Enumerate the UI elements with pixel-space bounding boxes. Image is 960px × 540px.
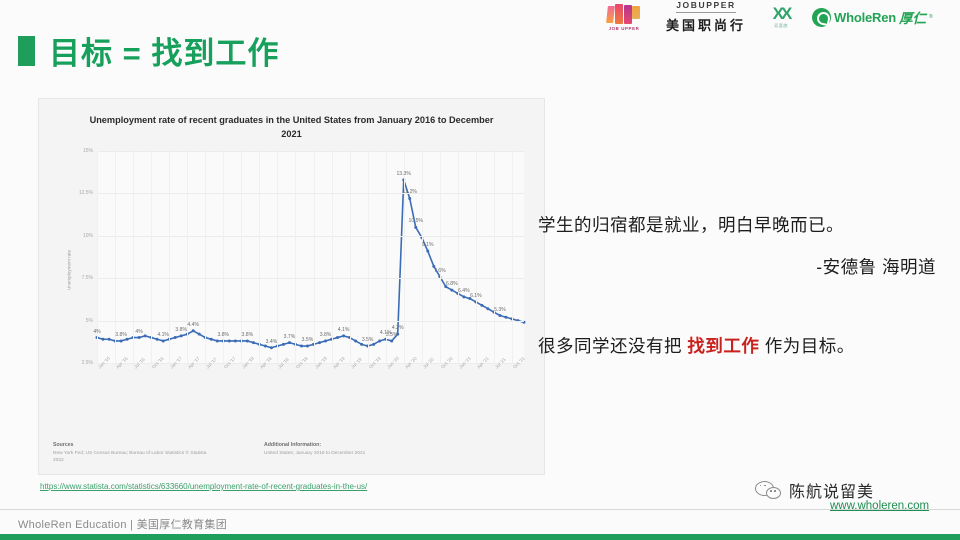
- y-axis-title: Unemployment rate: [67, 250, 72, 290]
- wholeren-logo: WholeRen 厚仁 ®: [812, 7, 933, 27]
- data-point: [504, 316, 507, 319]
- footer-divider: [0, 509, 960, 510]
- logo-bar: JOB UPPER JOBUPPER 美国职尚行 XX 双喜旗 WholeRen…: [596, 0, 960, 34]
- x-gridline: [295, 151, 296, 363]
- data-point: [228, 339, 231, 342]
- x-gridline: [277, 151, 278, 363]
- gridline: [97, 321, 524, 322]
- jobupper-en-text: JOBUPPER: [676, 0, 736, 13]
- jobupper-logo: JOBUPPER 美国职尚行: [662, 0, 750, 34]
- data-point-label: 3.5%: [362, 337, 374, 343]
- wechat-icon: [755, 480, 783, 501]
- data-point-label: 4.2%: [392, 325, 404, 331]
- data-point-label: 13.3%: [396, 171, 410, 177]
- data-point: [372, 343, 375, 346]
- gridline: [97, 193, 524, 194]
- statement-after: 作为目标。: [759, 336, 854, 356]
- data-point-label: 9.1%: [422, 242, 434, 248]
- page-title: 目标 = 找到工作: [18, 28, 279, 73]
- data-point-label: 7.6%: [434, 268, 446, 274]
- data-point: [144, 334, 147, 337]
- data-point: [486, 307, 489, 310]
- x-gridline: [368, 151, 369, 363]
- wholeren-leaf-icon: [812, 8, 831, 27]
- data-point-label: 4%: [135, 329, 142, 335]
- data-point-label: 3.8%: [217, 332, 229, 338]
- footer-text: WholeRen Education | 美国厚仁教育集团: [18, 516, 227, 532]
- job-upper-mark-icon: [605, 4, 643, 25]
- data-point-label: 3.8%: [115, 332, 127, 338]
- data-point: [120, 339, 123, 342]
- footer-accent-bar: [0, 534, 960, 540]
- data-point: [126, 338, 129, 341]
- data-point: [210, 338, 213, 341]
- data-point-label: 4.1%: [157, 332, 169, 338]
- data-point-label: 3.8%: [242, 332, 254, 338]
- y-axis-tick: 7.5%: [82, 275, 93, 281]
- data-point: [378, 339, 381, 342]
- data-point: [354, 339, 357, 342]
- y-axis-tick: 10%: [83, 233, 93, 239]
- data-point: [246, 339, 249, 342]
- sources-body: New York Fed; US Census Bureau; Bureau o…: [53, 451, 206, 463]
- data-point: [198, 333, 201, 336]
- data-point: [462, 295, 465, 298]
- data-point-label: 6.1%: [470, 293, 482, 299]
- title-bullet-icon: [18, 36, 35, 66]
- x-gridline: [440, 151, 441, 363]
- data-point: [360, 343, 363, 346]
- data-point-label: 3.5%: [302, 337, 314, 343]
- data-point-label: 6.4%: [458, 288, 470, 294]
- data-point-label: 4.1%: [338, 327, 350, 333]
- gridline: [97, 278, 524, 279]
- wechat-badge: 陈航说留美: [755, 478, 874, 502]
- data-point-label: 3.7%: [284, 334, 296, 340]
- wholeren-en-text: WholeRen: [834, 10, 896, 25]
- data-point: [414, 226, 417, 229]
- data-point-label: 6.8%: [446, 281, 458, 287]
- x-gridline: [314, 151, 315, 363]
- gridline: [97, 236, 524, 237]
- data-point: [306, 345, 309, 348]
- additional-info-label: Additional Information:: [264, 442, 429, 449]
- series-polyline: [97, 180, 524, 348]
- x-gridline: [259, 151, 260, 363]
- data-point: [252, 341, 255, 344]
- x-gridline: [422, 151, 423, 363]
- data-point: [264, 345, 267, 348]
- data-point-label: 3.8%: [320, 332, 332, 338]
- data-point: [300, 345, 303, 348]
- data-point-label: 10.5%: [409, 218, 423, 224]
- statement-before: 很多同学还没有把: [538, 336, 687, 356]
- title-text: 目标 = 找到工作: [49, 28, 279, 73]
- data-point: [408, 197, 411, 200]
- sources-block: Sources New York Fed; US Census Bureau; …: [53, 442, 530, 465]
- y-axis-tick: 12.5%: [79, 190, 93, 196]
- data-point: [282, 343, 285, 346]
- x-gridline: [512, 151, 513, 363]
- chart-card: Unemployment rate of recent graduates in…: [38, 98, 545, 475]
- data-point: [342, 334, 345, 337]
- data-point: [288, 341, 291, 344]
- data-point: [234, 339, 237, 342]
- statement-text: 很多同学还没有把 找到工作 作为目标。: [538, 333, 855, 358]
- job-upper-logo: JOB UPPER: [596, 4, 652, 31]
- data-point-label: 3.5%: [386, 332, 398, 338]
- wholeren-cn-text: 厚仁: [899, 7, 926, 27]
- data-point: [192, 329, 195, 332]
- x-gridline: [205, 151, 206, 363]
- y-axis-tick: 2.5%: [82, 360, 93, 366]
- statista-source-link[interactable]: https://www.statista.com/statistics/6336…: [40, 482, 367, 491]
- data-point-label: 4%: [93, 329, 100, 335]
- x-gridline: [151, 151, 152, 363]
- data-point: [138, 336, 141, 339]
- statement-highlight: 找到工作: [687, 336, 759, 356]
- data-point: [156, 338, 159, 341]
- data-point: [390, 339, 393, 342]
- data-point: [498, 314, 501, 317]
- jobupper-cn-text: 美国职尚行: [666, 15, 746, 34]
- additional-info-body: United States; January 2016 to December …: [264, 451, 365, 456]
- wholeren-trademark: ®: [929, 14, 933, 20]
- plot-canvas: 2.5%5%7.5%10%12.5%15%Jan '16Apr '16Jul '…: [97, 151, 524, 363]
- shuangxi-caption: 双喜旗: [774, 23, 788, 29]
- data-point: [162, 339, 165, 342]
- x-gridline: [458, 151, 459, 363]
- y-axis-tick: 5%: [86, 318, 93, 324]
- sources-column: Sources New York Fed; US Census Bureau; …: [53, 442, 218, 465]
- data-point: [450, 289, 453, 292]
- data-point: [426, 250, 429, 253]
- data-point-label: 5.3%: [494, 307, 506, 313]
- y-axis-tick: 15%: [83, 148, 93, 154]
- sources-label: Sources: [53, 442, 218, 449]
- data-point: [318, 341, 321, 344]
- data-point: [270, 346, 273, 349]
- data-point: [174, 336, 177, 339]
- data-point: [336, 336, 339, 339]
- data-point: [480, 304, 483, 307]
- slide: JOB UPPER JOBUPPER 美国职尚行 XX 双喜旗 WholeRen…: [0, 0, 960, 540]
- x-gridline: [494, 151, 495, 363]
- shuangxi-mark-icon: XX: [773, 5, 790, 22]
- data-point: [102, 338, 105, 341]
- quote-text: 学生的归宿都是就业，明白早晚而已。: [538, 212, 844, 237]
- data-point: [180, 334, 183, 337]
- x-gridline: [133, 151, 134, 363]
- gridline: [97, 151, 524, 152]
- x-gridline: [404, 151, 405, 363]
- data-point: [108, 338, 111, 341]
- data-point: [216, 339, 219, 342]
- shuangxi-logo: XX 双喜旗: [760, 5, 802, 29]
- data-point-label: 3.4%: [266, 339, 278, 345]
- data-point: [324, 339, 327, 342]
- chart-title: Unemployment rate of recent graduates in…: [85, 113, 498, 141]
- data-point-label: 4.4%: [187, 322, 199, 328]
- x-gridline: [476, 151, 477, 363]
- quote-attribution: -安德鲁 海明道: [538, 254, 936, 279]
- wechat-account-name: 陈航说留美: [789, 478, 874, 502]
- wholeren-website-link[interactable]: www.wholeren.com: [830, 500, 929, 512]
- additional-info-column: Additional Information: United States; J…: [264, 442, 429, 465]
- job-upper-caption: JOB UPPER: [609, 26, 640, 31]
- data-point-label: 12.2%: [402, 189, 416, 195]
- plot-area: Unemployment rate 2.5%5%7.5%10%12.5%15%J…: [53, 151, 530, 389]
- data-point-label: 3.8%: [175, 327, 187, 333]
